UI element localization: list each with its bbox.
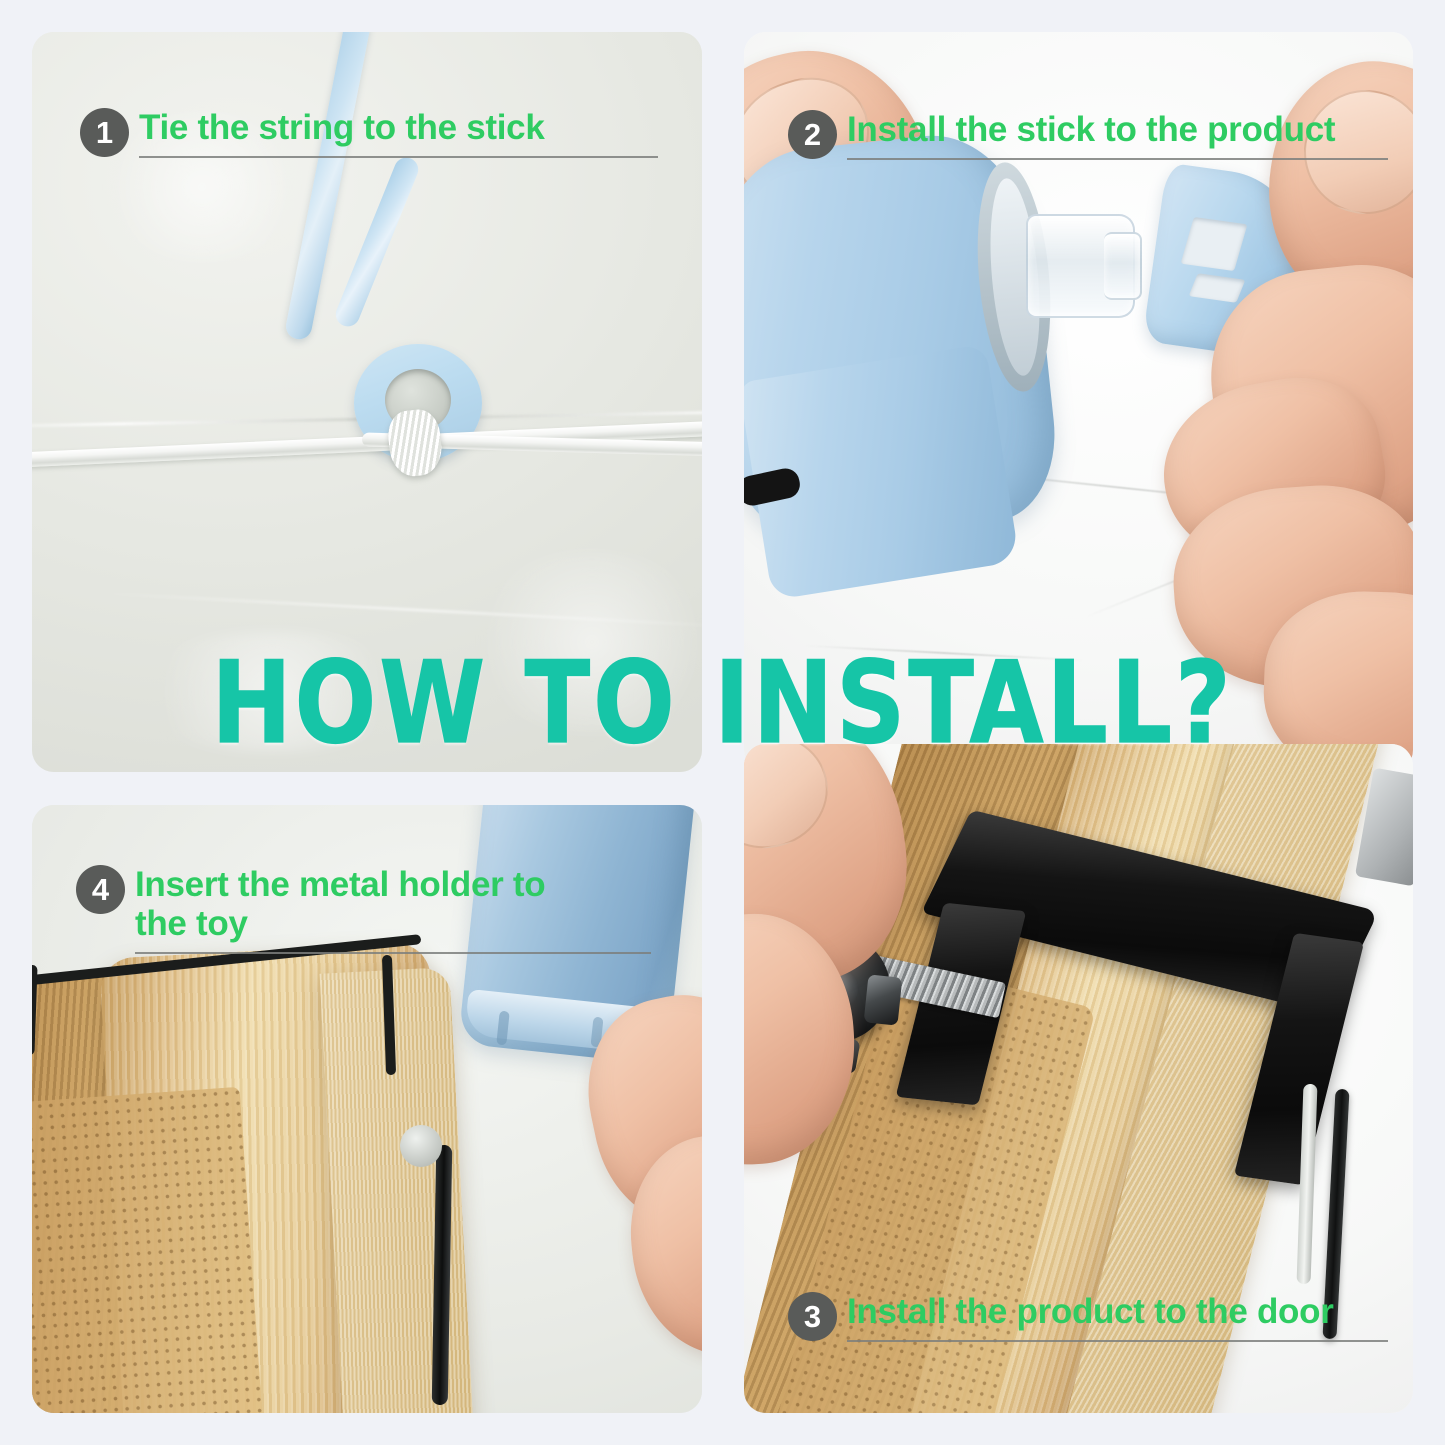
- step-1-caption: 1 Tie the string to the stick: [80, 108, 658, 158]
- clear-stick-tip: [1104, 232, 1142, 300]
- step-1-badge: 1: [80, 108, 129, 157]
- bamboo-grain-texture: [32, 1087, 264, 1413]
- step-4-panel: 4 Insert the metal holder to the toy: [32, 805, 702, 1413]
- step-2-underline: [847, 158, 1388, 160]
- step-1-underline: [139, 156, 658, 158]
- step-4-label: Insert the metal holder to the toy: [135, 865, 651, 943]
- wire-holder-washer: [400, 1125, 442, 1167]
- step-2-badge: 2: [788, 110, 837, 159]
- step-4-underline: [135, 952, 651, 954]
- step-3-caption: 3 Install the product to the door: [788, 1292, 1388, 1342]
- step-2-label: Install the stick to the product: [847, 110, 1388, 149]
- knob-lobe: [864, 974, 903, 1025]
- step-4-caption: 4 Insert the metal holder to the toy: [76, 865, 651, 954]
- how-to-install-infographic: 1 Tie the string to the stick: [0, 0, 1445, 1445]
- step-3-underline: [847, 1340, 1388, 1342]
- step-3-panel: 3 Install the product to the door: [744, 744, 1413, 1413]
- step-3-badge: 3: [788, 1292, 837, 1341]
- page-title: HOW TO INSTALL?: [0, 646, 1445, 759]
- step-2-caption: 2 Install the stick to the product: [788, 110, 1388, 160]
- step-3-label: Install the product to the door: [847, 1292, 1388, 1331]
- step-1-label: Tie the string to the stick: [139, 108, 658, 147]
- step-4-badge: 4: [76, 865, 125, 914]
